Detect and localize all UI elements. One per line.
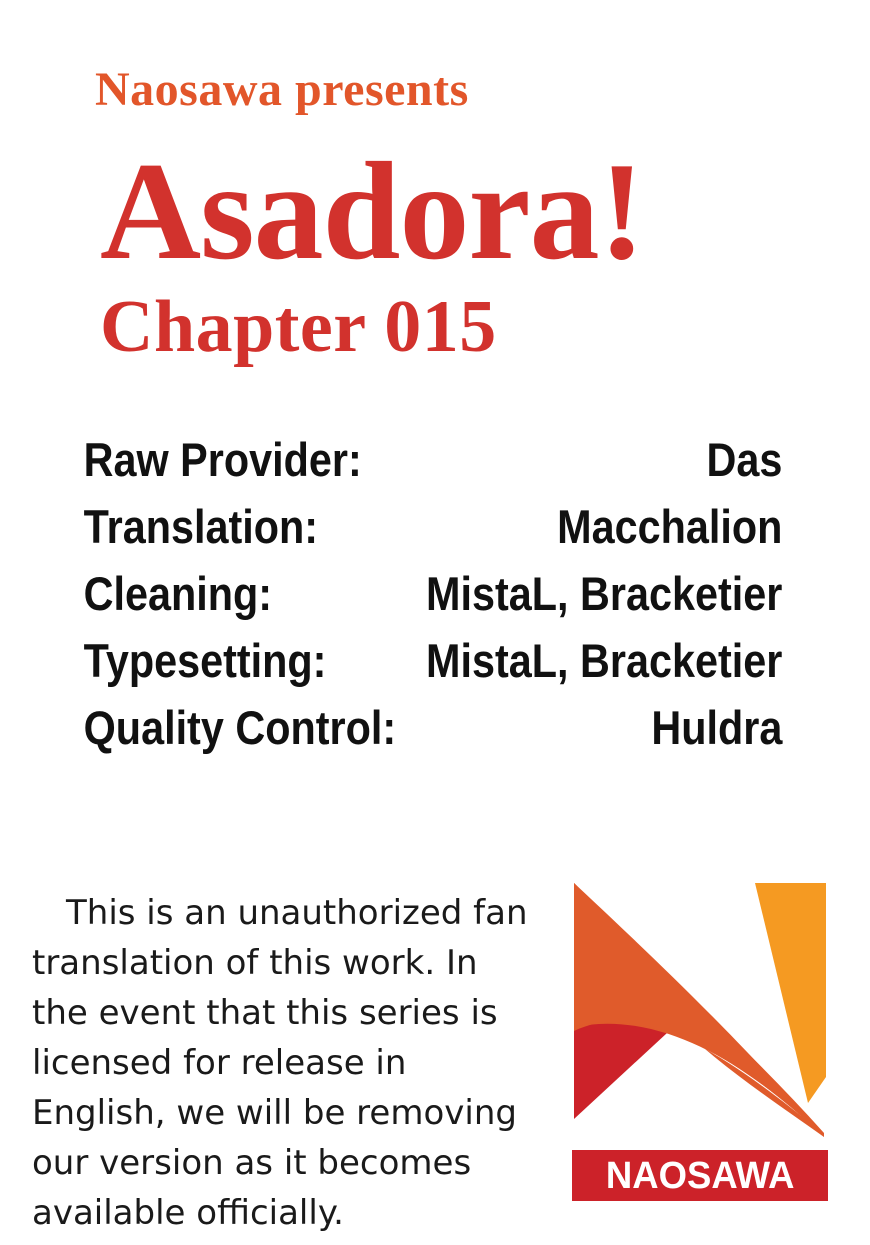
disclaimer-text: This is an unauthorized fan translation … bbox=[32, 888, 532, 1238]
credit-role-label: Translation: bbox=[84, 499, 318, 554]
credit-name-value: Das bbox=[706, 432, 782, 487]
credit-row: Quality Control: Huldra bbox=[84, 700, 783, 767]
credit-name-value: Macchalion bbox=[557, 499, 782, 554]
presents-line: Naosawa presents bbox=[95, 66, 469, 114]
credits-list: Raw Provider: Das Translation: Macchalio… bbox=[36, 432, 830, 767]
credits-page: Naosawa presents Asadora! Chapter 015 Ra… bbox=[0, 0, 870, 1245]
credit-row: Cleaning: MistaL, Bracketier bbox=[84, 566, 783, 633]
credit-role-label: Quality Control: bbox=[84, 700, 396, 755]
credit-row: Translation: Macchalion bbox=[84, 499, 783, 566]
naosawa-logo: NAOSAWA bbox=[572, 881, 828, 1201]
credit-name-value: Huldra bbox=[651, 700, 782, 755]
credit-row: Typesetting: MistaL, Bracketier bbox=[84, 633, 783, 700]
series-title: Asadora! bbox=[100, 142, 644, 282]
credit-role-label: Typesetting: bbox=[84, 633, 327, 688]
credit-name-value: MistaL, Bracketier bbox=[426, 633, 782, 688]
credit-role-label: Cleaning: bbox=[84, 566, 272, 621]
credit-row: Raw Provider: Das bbox=[84, 432, 783, 499]
credit-name-value: MistaL, Bracketier bbox=[426, 566, 782, 621]
naosawa-wordmark: NAOSAWA bbox=[606, 1157, 795, 1195]
chapter-title: Chapter 015 bbox=[100, 290, 497, 364]
naosawa-logo-banner: NAOSAWA bbox=[572, 1150, 828, 1201]
credit-role-label: Raw Provider: bbox=[84, 432, 362, 487]
naosawa-logo-mark-icon bbox=[572, 881, 828, 1143]
